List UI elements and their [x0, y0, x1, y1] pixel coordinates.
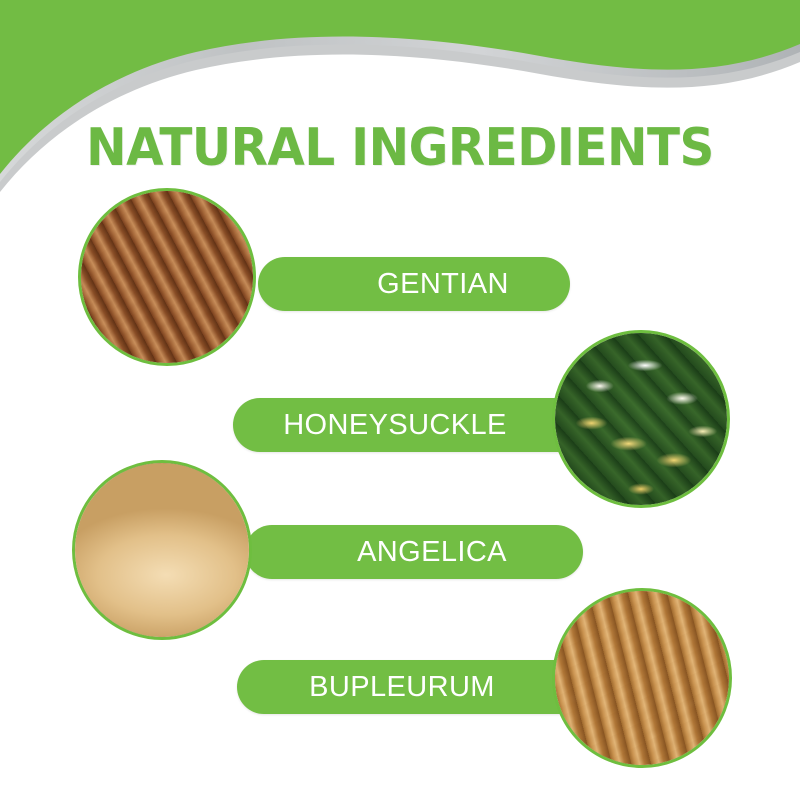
- photo-texture: [81, 191, 253, 363]
- bupleurum-root-photo: [552, 588, 732, 768]
- photo-texture: [75, 463, 249, 637]
- photo-texture: [555, 333, 727, 505]
- ingredient-pill-gentian[interactable]: GENTIAN: [258, 257, 570, 311]
- photo-clip: [555, 333, 727, 505]
- photo-clip: [81, 191, 253, 363]
- photo-texture: [555, 591, 729, 765]
- ingredients-infographic: NATURAL INGREDIENTS GENTIAN HONEYSUCKLE …: [0, 0, 800, 800]
- honeysuckle-flower-photo: [552, 330, 730, 508]
- angelica-root-photo: [72, 460, 252, 640]
- ingredient-pill-angelica[interactable]: ANGELICA: [245, 525, 583, 579]
- gentian-root-photo: [78, 188, 256, 366]
- photo-clip: [75, 463, 249, 637]
- ingredient-pill-honeysuckle[interactable]: HONEYSUCKLE: [233, 398, 605, 452]
- ingredient-label: BUPLEURUM: [309, 671, 537, 704]
- ingredient-label: GENTIAN: [319, 268, 509, 301]
- ingredient-label: HONEYSUCKLE: [283, 409, 555, 442]
- page-title: NATURAL INGREDIENTS: [28, 118, 772, 178]
- photo-clip: [555, 591, 729, 765]
- ingredient-label: ANGELICA: [321, 536, 507, 569]
